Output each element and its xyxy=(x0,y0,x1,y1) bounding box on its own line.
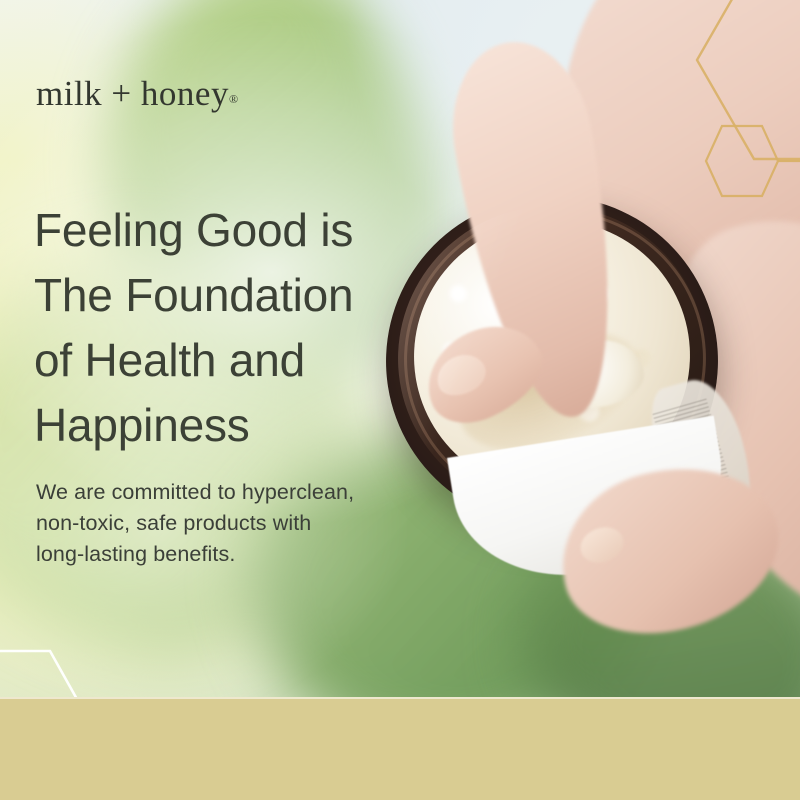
hexagon-outline-gold-small xyxy=(690,104,800,214)
body-line-1: We are committed to hyperclean, xyxy=(36,477,416,508)
headline-line-2: The Foundation xyxy=(34,263,454,328)
brand-name: milk + honey xyxy=(36,74,229,113)
tan-footer-band xyxy=(0,697,800,800)
registered-trademark-icon: ® xyxy=(229,92,238,106)
body-copy: We are committed to hyperclean, non-toxi… xyxy=(36,477,416,570)
promotional-graphic: milk + honey® Feeling Good is The Founda… xyxy=(0,0,800,800)
headline-line-1: Feeling Good is xyxy=(34,198,454,263)
headline-line-3: of Health and xyxy=(34,328,454,393)
headline-line-4: Happiness xyxy=(34,393,454,458)
body-line-2: non-toxic, safe products with xyxy=(36,508,416,539)
band-top-rule xyxy=(0,697,800,699)
brand-logo: milk + honey® xyxy=(36,74,238,114)
body-line-3: long-lasting benefits. xyxy=(36,539,416,570)
headline: Feeling Good is The Foundation of Health… xyxy=(34,198,454,458)
